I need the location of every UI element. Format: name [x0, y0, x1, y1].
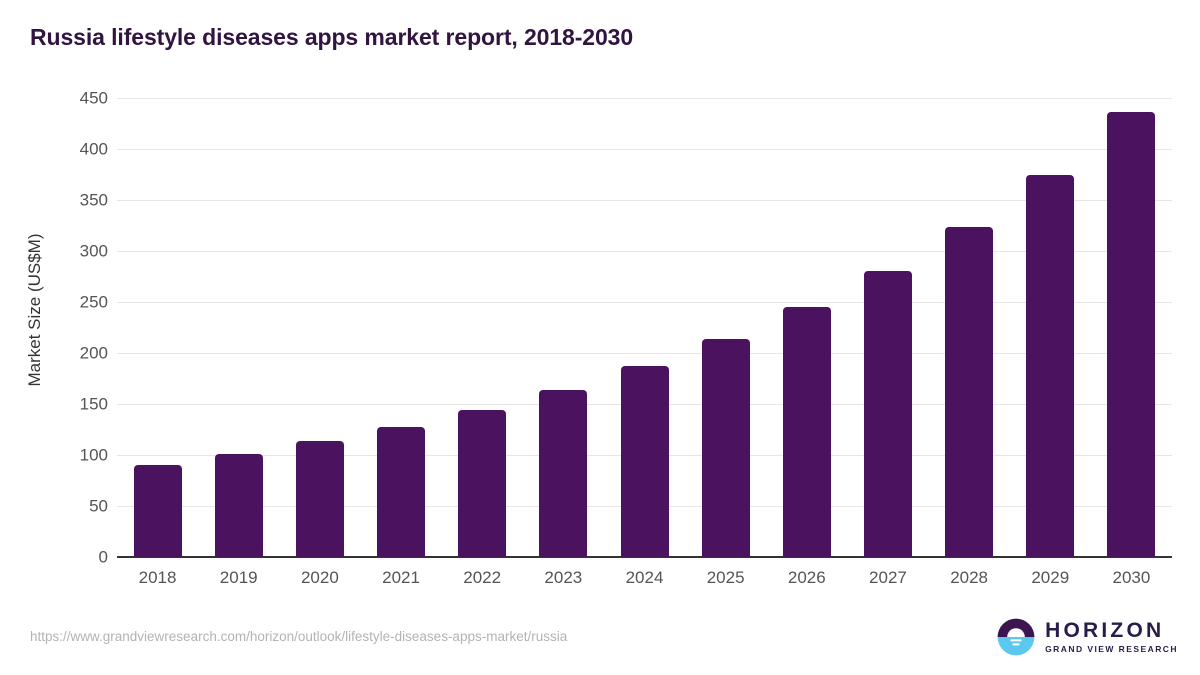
- gridline: [117, 200, 1172, 201]
- gridline: [117, 149, 1172, 150]
- gridline: [117, 353, 1172, 354]
- y-axis-ticks: 050100150200250300350400450: [0, 0, 1200, 675]
- horizon-logo: HORIZON GRAND VIEW RESEARCH: [996, 617, 1178, 657]
- y-axis-tick-label: 50: [89, 498, 108, 515]
- source-url[interactable]: https://www.grandviewresearch.com/horizo…: [30, 629, 567, 644]
- y-axis-tick-label: 400: [80, 141, 108, 158]
- x-axis-ticks: 2018201920202021202220232024202520262027…: [0, 0, 1200, 675]
- bar-2025[interactable]: [702, 339, 750, 557]
- bar-2026[interactable]: [783, 307, 831, 557]
- horizon-logo-icon: [996, 617, 1036, 657]
- y-axis-tick-label: 0: [99, 549, 108, 566]
- x-axis-tick-label-2025: 2025: [707, 568, 745, 588]
- x-axis-tick-label-2019: 2019: [220, 568, 258, 588]
- x-axis-line: [117, 556, 1172, 558]
- gridline: [117, 506, 1172, 507]
- logo-secondary-text: GRAND VIEW RESEARCH: [1045, 645, 1178, 654]
- bar-2023[interactable]: [539, 390, 587, 557]
- y-axis-tick-label: 150: [80, 396, 108, 413]
- x-axis-tick-label-2026: 2026: [788, 568, 826, 588]
- x-axis-tick-label-2022: 2022: [463, 568, 501, 588]
- x-axis-tick-label-2024: 2024: [626, 568, 664, 588]
- bar-2020[interactable]: [296, 441, 344, 557]
- logo-primary-text: HORIZON: [1045, 620, 1178, 641]
- y-axis-tick-label: 350: [80, 192, 108, 209]
- bar-chart: Market Size (US$M) 050100150200250300350…: [0, 0, 1200, 675]
- x-axis-tick-label-2021: 2021: [382, 568, 420, 588]
- x-axis-tick-label-2029: 2029: [1031, 568, 1069, 588]
- gridlines: [0, 0, 1200, 675]
- y-axis-tick-label: 200: [80, 345, 108, 362]
- gridline: [117, 251, 1172, 252]
- bar-2018[interactable]: [134, 465, 182, 557]
- gridline: [117, 404, 1172, 405]
- x-axis-tick-label-2028: 2028: [950, 568, 988, 588]
- x-axis-tick-label-2020: 2020: [301, 568, 339, 588]
- bar-2019[interactable]: [215, 454, 263, 557]
- bar-2021[interactable]: [377, 427, 425, 557]
- gridline: [117, 98, 1172, 99]
- x-axis-tick-label-2018: 2018: [139, 568, 177, 588]
- bars: [0, 0, 1200, 675]
- y-axis-tick-label: 450: [80, 90, 108, 107]
- bar-2024[interactable]: [621, 366, 669, 557]
- gridline: [117, 302, 1172, 303]
- x-axis-tick-label-2027: 2027: [869, 568, 907, 588]
- y-axis-tick-label: 100: [80, 447, 108, 464]
- chart-page: Russia lifestyle diseases apps market re…: [0, 0, 1200, 675]
- bar-2028[interactable]: [945, 227, 993, 557]
- y-axis-tick-label: 250: [80, 294, 108, 311]
- bar-2022[interactable]: [458, 410, 506, 557]
- x-axis-tick-label-2030: 2030: [1113, 568, 1151, 588]
- logo-text: HORIZON GRAND VIEW RESEARCH: [1045, 620, 1178, 654]
- x-axis-tick-label-2023: 2023: [544, 568, 582, 588]
- bar-2030[interactable]: [1107, 112, 1155, 557]
- y-axis-tick-label: 300: [80, 243, 108, 260]
- y-axis-title: Market Size (US$M): [25, 200, 45, 420]
- gridline: [117, 455, 1172, 456]
- bar-2027[interactable]: [864, 271, 912, 557]
- bar-2029[interactable]: [1026, 175, 1074, 558]
